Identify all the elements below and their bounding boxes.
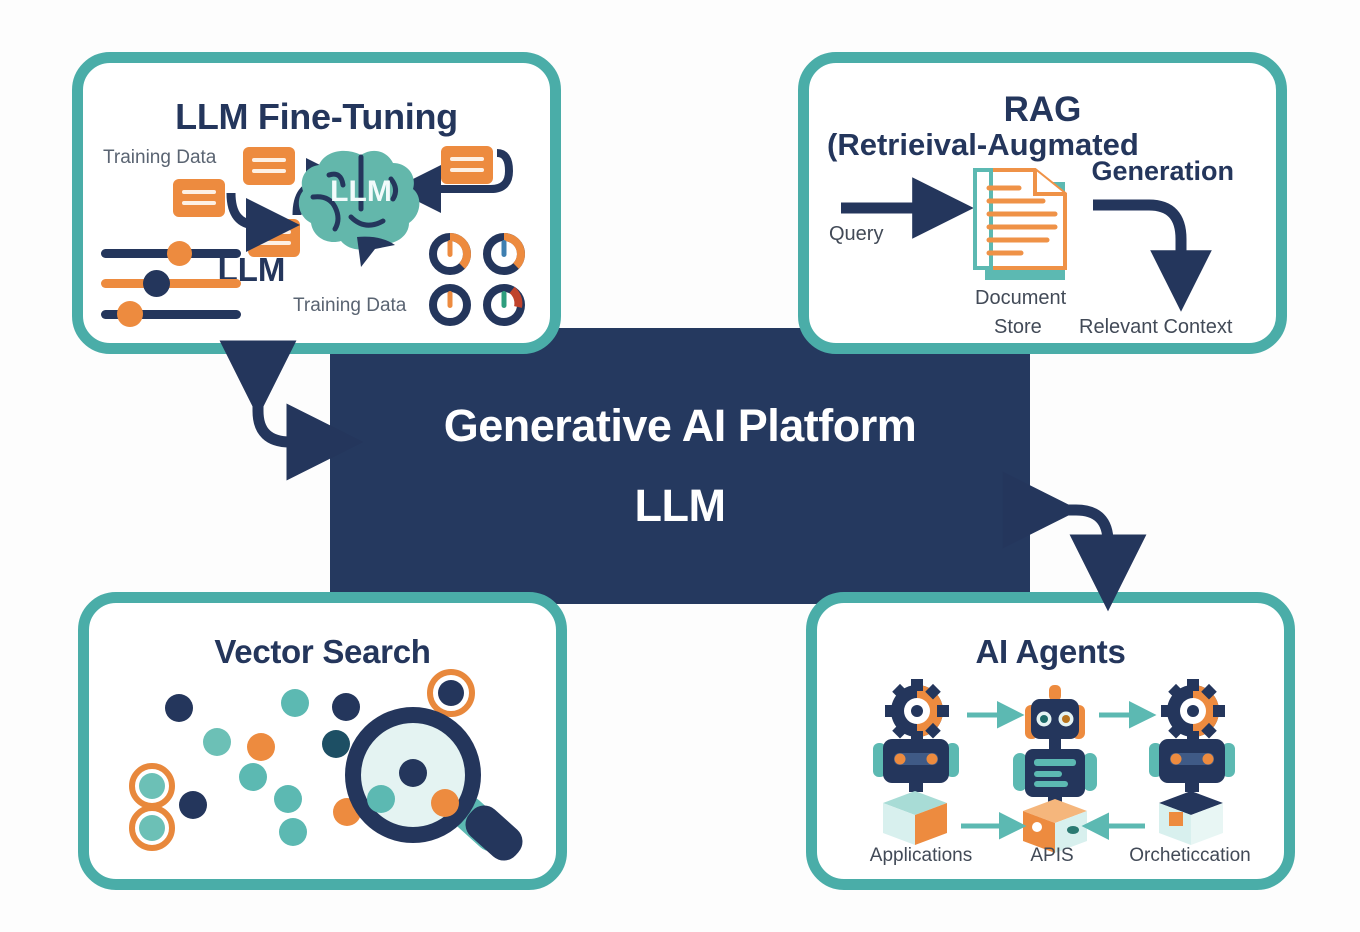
slider-knob[interactable] xyxy=(117,301,143,327)
center-title-line2: LLM xyxy=(635,480,726,532)
arrow-icon-query xyxy=(839,191,969,225)
vector-dot xyxy=(203,728,231,756)
slider-knob[interactable] xyxy=(143,270,170,297)
vector-dot xyxy=(165,694,193,722)
vector-dot xyxy=(239,763,267,791)
vector-dot xyxy=(139,773,165,799)
cube-icon xyxy=(883,791,947,845)
gear-icon xyxy=(1161,679,1225,743)
panel-rag[interactable]: RAG (Retrieival-Augmated Generation Quer… xyxy=(798,52,1287,354)
label-relevant-context: Relevant Context xyxy=(1079,316,1232,339)
label-applications: Applications xyxy=(841,845,1001,867)
panel-vector-search[interactable]: Vector Search xyxy=(78,592,567,890)
gauge-icon xyxy=(433,237,467,271)
label-document-store-line1: Document xyxy=(975,287,1066,310)
center-title-line1: Generative AI Platform xyxy=(444,400,917,452)
cube-icon xyxy=(1159,791,1223,845)
document-store-icon xyxy=(971,168,1081,288)
svg-text:LLM: LLM xyxy=(330,175,392,208)
label-training-data-bottom: Training Data xyxy=(293,295,406,317)
vector-dot xyxy=(179,791,207,819)
vector-dot xyxy=(274,785,302,813)
vector-dot xyxy=(281,689,309,717)
label-apis: APIS xyxy=(997,845,1107,867)
connector-center-to-agents xyxy=(1022,488,1140,598)
magnifier-icon xyxy=(339,703,539,883)
gauge-icon xyxy=(433,288,467,322)
label-training-data-top: Training Data xyxy=(103,147,216,169)
vector-dot xyxy=(279,818,307,846)
slider-knob[interactable] xyxy=(167,241,192,266)
slider-icon[interactable] xyxy=(101,279,241,288)
gauge-icon-group xyxy=(426,231,532,331)
vector-dot xyxy=(247,733,275,761)
panel-llm-fine-tuning[interactable]: LLM Fine-Tuning Training Data xyxy=(72,52,561,354)
label-query: Query xyxy=(829,223,883,246)
agents-flow-graphic xyxy=(845,681,1265,861)
arrow-icon-relevant-context xyxy=(1091,187,1219,307)
panel-title-vector-search: Vector Search xyxy=(89,633,556,671)
label-document-store-line2: Store xyxy=(994,316,1042,339)
connector-finetune-to-center xyxy=(228,356,348,464)
gear-icon xyxy=(885,679,949,743)
panel-title-ai-agents: AI Agents xyxy=(817,633,1284,671)
panel-title-fine-tuning: LLM Fine-Tuning xyxy=(83,96,550,138)
vector-dot xyxy=(139,815,165,841)
diagram-canvas: Generative AI Platform LLM xyxy=(0,0,1360,932)
robot-icon xyxy=(873,739,959,792)
center-platform-block: Generative AI Platform LLM xyxy=(330,328,1030,604)
panel-title-rag-line3: Generation xyxy=(1091,156,1234,187)
robot-icon-center xyxy=(1013,685,1097,815)
label-orchestration: Orcheticcation xyxy=(1105,845,1275,867)
robot-icon xyxy=(1149,739,1235,792)
panel-title-rag-line1: RAG xyxy=(809,90,1276,130)
gauge-icon xyxy=(487,237,521,271)
gauge-icon xyxy=(487,288,521,322)
panel-ai-agents[interactable]: AI Agents xyxy=(806,592,1295,890)
